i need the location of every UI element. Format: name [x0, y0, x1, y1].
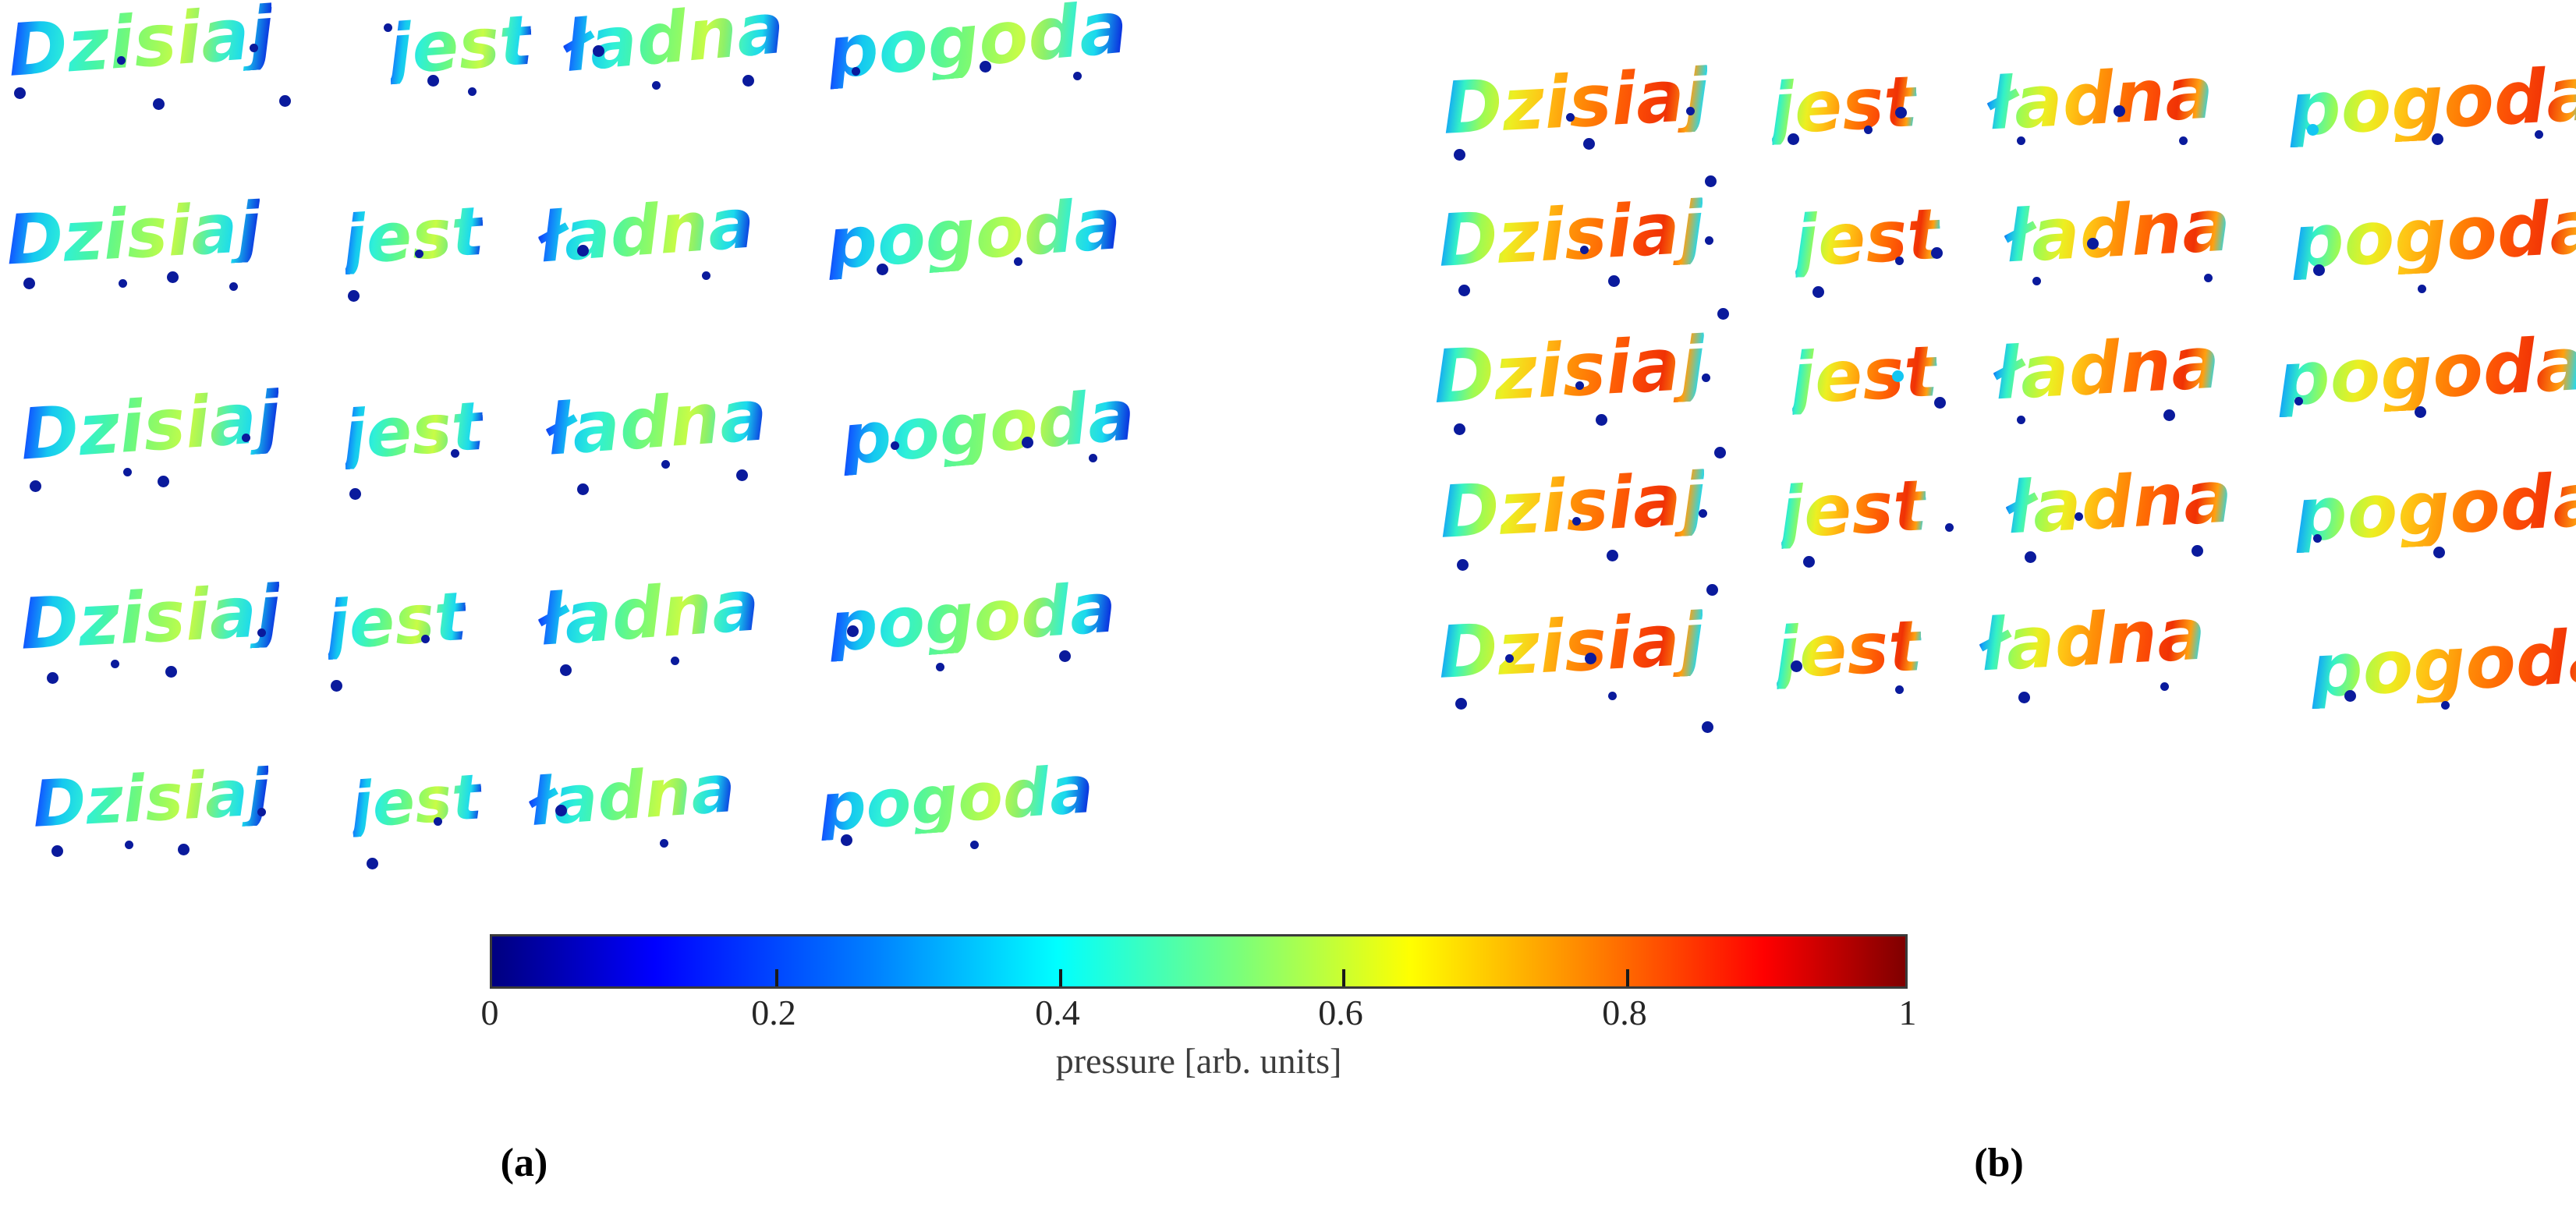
pen-lift-dot — [577, 483, 589, 495]
pen-lift-dot — [2017, 136, 2025, 145]
panel-caption-b: (b) — [1974, 1140, 2024, 1186]
handwriting-word: ładna — [536, 571, 761, 657]
pen-lift-dot — [349, 488, 361, 500]
pressure-colorbar[interactable] — [490, 934, 1908, 989]
pen-lift-dot — [153, 98, 165, 110]
pen-lift-dot — [1931, 247, 1943, 259]
pen-lift-dot — [1699, 509, 1707, 518]
pen-lift-dot — [47, 672, 58, 684]
pen-lift-dot — [1458, 285, 1470, 296]
pen-lift-dot — [331, 680, 342, 692]
handwriting-word: Dzisiaj — [1437, 192, 1706, 278]
pen-lift-dot — [1575, 381, 1584, 390]
pen-lift-dot — [1608, 692, 1617, 700]
pen-lift-dot — [1864, 126, 1873, 134]
pen-lift-dot — [1572, 517, 1581, 526]
colorbar-tick — [1342, 969, 1345, 986]
pen-lift-dot — [1686, 107, 1695, 115]
pen-lift-dot — [1895, 685, 1904, 694]
pen-lift-dot — [279, 95, 291, 107]
pen-lift-dot — [2087, 238, 2099, 250]
pen-lift-dot — [1454, 149, 1465, 161]
pen-lift-dot — [742, 75, 754, 87]
pen-lift-dot — [178, 844, 190, 855]
pen-lift-dot — [2344, 690, 2356, 702]
pen-lift-dot — [2415, 406, 2426, 418]
colorbar-tick-label: 0.4 — [1035, 992, 1080, 1033]
pen-lift-dot — [652, 81, 661, 90]
pen-lift-dot — [2192, 545, 2203, 557]
pen-lift-dot — [2294, 397, 2303, 405]
pen-lift-dot — [1702, 721, 1713, 733]
pen-lift-dot — [125, 841, 133, 849]
pen-lift-dot — [1714, 447, 1726, 458]
pen-lift-dot — [841, 834, 852, 846]
pen-lift-dot — [2418, 285, 2426, 293]
colorbar-group: 0 0.2 0.4 0.6 0.8 1 pressure [arb. units… — [490, 934, 1908, 989]
pen-lift-dot — [1596, 414, 1607, 426]
pen-lift-dot — [1892, 370, 1904, 382]
handwriting-word: pogoda — [2290, 191, 2576, 281]
pen-lift-dot — [2018, 692, 2030, 703]
pen-lift-dot — [1895, 257, 1904, 265]
handwriting-word: pogoda — [824, 189, 1123, 280]
pen-lift-dot — [1505, 654, 1514, 663]
handwriting-word: jest — [386, 6, 534, 85]
pen-lift-dot — [1702, 374, 1710, 382]
handwriting-word: Dzisiaj — [1432, 327, 1707, 415]
pen-lift-dot — [2204, 274, 2213, 282]
pen-lift-dot — [593, 45, 604, 57]
pen-lift-dot — [167, 271, 179, 283]
pen-lift-dot — [1022, 437, 1033, 448]
pen-lift-dot — [367, 858, 378, 869]
handwriting-word: Dzisiaj — [5, 0, 276, 87]
handwriting-word: pogoda — [2293, 464, 2576, 554]
pen-lift-dot — [2313, 264, 2325, 276]
pen-lift-dot — [577, 245, 589, 257]
pen-lift-dot — [2025, 551, 2036, 563]
pen-lift-dot — [1014, 257, 1022, 266]
handwriting-word: ładna — [1992, 327, 2221, 410]
pen-lift-dot — [2017, 416, 2025, 424]
pen-lift-dot — [111, 660, 119, 668]
colorbar-tick-label: 0 — [481, 992, 499, 1033]
handwriting-word: jest — [1789, 337, 1940, 415]
handwriting-word: pogoda — [2287, 58, 2576, 148]
pen-lift-dot — [702, 271, 710, 280]
pen-lift-dot — [2313, 534, 2322, 543]
pen-lift-dot — [451, 449, 459, 458]
handwriting-word: jest — [349, 766, 484, 837]
figure-canvas: Dzisiaj jest ładna pogoda Dzisiaj jest ł… — [0, 0, 2576, 1225]
handwriting-word: jest — [1778, 471, 1929, 549]
pen-lift-dot — [2160, 682, 2169, 691]
pen-lift-dot — [1895, 107, 1907, 119]
pen-lift-dot — [250, 44, 258, 52]
handwriting-word: Dzisiaj — [31, 761, 271, 837]
pen-lift-dot — [1585, 653, 1596, 664]
colorbar-tick — [1059, 969, 1062, 986]
pen-lift-dot — [1803, 556, 1815, 568]
pen-lift-dot — [1580, 246, 1589, 254]
pen-lift-dot — [2535, 130, 2543, 139]
pen-lift-dot — [671, 657, 679, 665]
pen-lift-dot — [257, 628, 266, 637]
pen-lift-dot — [1812, 286, 1824, 298]
pen-lift-dot — [852, 67, 860, 76]
pen-lift-dot — [1059, 650, 1071, 662]
pen-lift-dot — [2075, 512, 2083, 521]
pen-lift-dot — [2433, 547, 2445, 558]
colorbar-tick-label: 0.2 — [751, 992, 796, 1033]
pen-lift-dot — [1607, 550, 1618, 561]
handwriting-word: ładna — [561, 0, 787, 83]
pen-lift-dot — [119, 279, 127, 288]
pen-lift-dot — [891, 441, 899, 450]
handwriting-word: Dzisiaj — [1437, 604, 1706, 689]
panel-b: Dzisiaj jest ładna pogoda Dzisiaj jest ł… — [1427, 58, 2576, 752]
pen-lift-dot — [421, 635, 430, 643]
pen-lift-dot — [660, 839, 668, 848]
handwriting-word: ładna — [2003, 189, 2232, 273]
handwriting-word: ładna — [1986, 57, 2215, 140]
pen-lift-dot — [661, 460, 670, 469]
pen-lift-dot — [1457, 559, 1469, 571]
panel-a: Dzisiaj jest ładna pogoda Dzisiaj jest ł… — [0, 0, 1170, 881]
pen-lift-dot — [51, 845, 63, 857]
colorbar-tick — [1626, 969, 1629, 986]
pen-lift-dot — [2163, 409, 2175, 421]
handwriting-word: pogoda — [2276, 328, 2576, 418]
colorbar-tick-label: 0.6 — [1318, 992, 1363, 1033]
handwriting-word: pogoda — [826, 573, 1118, 662]
colorbar-axis-label: pressure [arb. units] — [490, 1040, 1908, 1082]
pen-lift-dot — [847, 625, 859, 637]
pen-lift-dot — [1455, 698, 1467, 710]
pen-lift-dot — [555, 805, 567, 816]
handwriting-word: jest — [1773, 611, 1924, 689]
handwriting-word: ładna — [536, 189, 757, 272]
handwriting-word: jest — [324, 583, 469, 660]
pen-lift-dot — [165, 666, 177, 678]
colorbar-tick — [775, 969, 778, 986]
pen-lift-dot — [242, 434, 250, 442]
pen-lift-dot — [434, 817, 442, 826]
handwriting-word: jest — [341, 198, 486, 274]
handwriting-word: ładna — [1978, 598, 2207, 682]
pen-lift-dot — [427, 75, 439, 87]
pen-lift-dot — [877, 264, 888, 275]
handwriting-word: pogoda — [824, 0, 1131, 90]
pen-lift-dot — [23, 278, 35, 289]
colorbar-tick-label: 1 — [1899, 992, 1917, 1033]
pen-lift-dot — [2032, 277, 2041, 285]
pen-lift-dot — [1791, 660, 1802, 672]
handwriting-word: Dzisiaj — [18, 382, 282, 470]
pen-lift-dot — [1073, 72, 1082, 80]
pen-lift-dot — [2179, 136, 2188, 145]
handwriting-word: jest — [1792, 200, 1943, 278]
pen-lift-dot — [1705, 175, 1717, 187]
pen-lift-dot — [1706, 584, 1718, 596]
pen-lift-dot — [30, 480, 41, 492]
pen-lift-dot — [117, 56, 126, 65]
pen-lift-dot — [123, 468, 132, 476]
pen-lift-dot — [1717, 308, 1729, 320]
pen-lift-dot — [2432, 133, 2443, 145]
handwriting-word: Dzisiaj — [1438, 463, 1708, 549]
pen-lift-dot — [1566, 113, 1575, 122]
colorbar-tick-label: 0.8 — [1602, 992, 1647, 1033]
handwriting-word: ładna — [526, 756, 737, 835]
pen-lift-dot — [970, 841, 979, 849]
pen-lift-dot — [158, 476, 169, 487]
pen-lift-dot — [257, 808, 266, 816]
pen-lift-dot — [936, 663, 944, 671]
pen-lift-dot — [348, 290, 360, 302]
pen-lift-dot — [1945, 523, 1954, 532]
pen-lift-dot — [1454, 423, 1465, 435]
pen-lift-dot — [1608, 275, 1620, 287]
handwriting-word: Dzisiaj — [5, 193, 263, 275]
pen-lift-dot — [229, 282, 238, 291]
pen-lift-dot — [2307, 124, 2319, 136]
pen-lift-dot — [1705, 236, 1713, 245]
handwriting-word: ładna — [2004, 461, 2234, 544]
pen-lift-dot — [736, 469, 748, 481]
panel-caption-a: (a) — [501, 1140, 548, 1186]
pen-lift-dot — [468, 87, 477, 96]
handwriting-word: jest — [341, 393, 486, 469]
handwriting-word: Dzisiaj — [19, 576, 282, 660]
pen-lift-dot — [560, 664, 572, 676]
handwriting-word: pogoda — [817, 756, 1096, 841]
pen-lift-dot — [384, 23, 392, 32]
pen-lift-dot — [1788, 133, 1799, 145]
pen-lift-dot — [14, 87, 26, 99]
pen-lift-dot — [1089, 454, 1097, 462]
pen-lift-dot — [2441, 701, 2450, 710]
handwriting-word: Dzisiaj — [1441, 59, 1711, 145]
pen-lift-dot — [2114, 105, 2125, 117]
pen-lift-dot — [1583, 138, 1595, 150]
pen-lift-dot — [415, 250, 423, 258]
pen-lift-dot — [980, 61, 991, 73]
handwriting-word: ładna — [544, 381, 769, 466]
pen-lift-dot — [1934, 397, 1946, 409]
